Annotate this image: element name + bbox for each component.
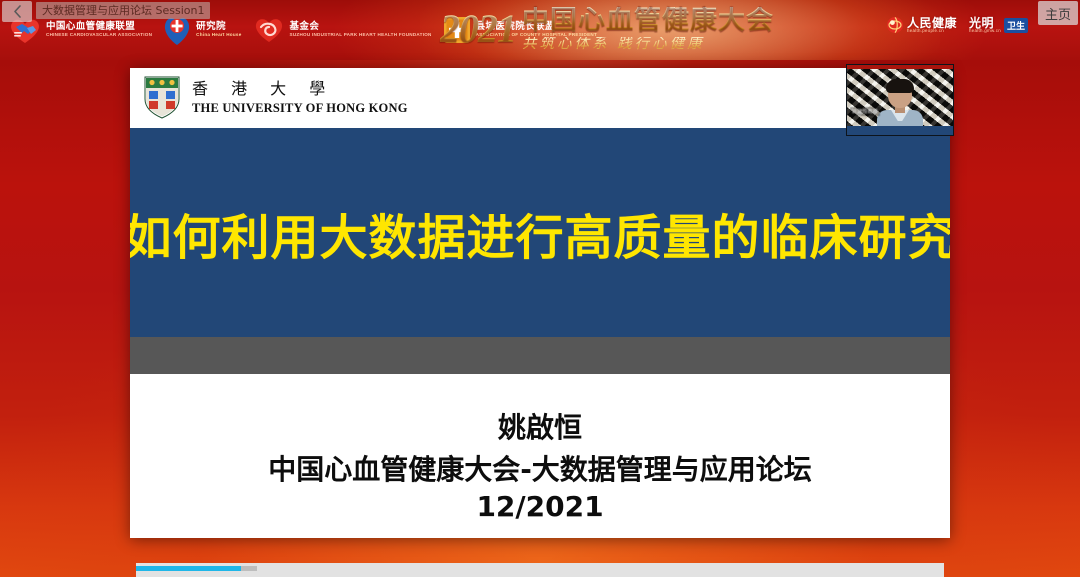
logo-url: health.people.cn [907, 29, 957, 33]
chevron-left-icon [12, 5, 23, 18]
slide-title: 如何利用大数据进行高质量的临床研究 [130, 198, 950, 268]
progress-played [136, 566, 241, 571]
slide-header: 香 港 大 學 THE UNIVERSITY OF HONG KONG [130, 68, 950, 128]
webcam-top-edge [847, 65, 953, 69]
back-button[interactable] [2, 1, 32, 22]
logo-url: health.gmw.cn [969, 29, 1001, 33]
home-button[interactable]: 主页 [1038, 1, 1078, 25]
people-globe-icon [886, 16, 904, 34]
slide-divider-band [130, 337, 950, 374]
banner-subtitle: 共筑心体系 践行心健康 [522, 37, 774, 52]
university-cn-name: 香 港 大 學 [192, 81, 408, 97]
speaker-webcam-pip[interactable]: 姚啟恒教授 [846, 64, 954, 136]
video-player-stage: 中国心血管健康联盟 CHINESE CARDIOVASCULAR ASSOCIA… [0, 0, 1080, 577]
university-name-block: 香 港 大 學 THE UNIVERSITY OF HONG KONG [192, 81, 408, 115]
logo-cn-name: 中国心血管健康联盟 [46, 22, 152, 32]
conference-banner: 2021 中国心血管健康大会 共筑心体系 践行心健康 [440, 0, 870, 58]
logo-cn-name: 基金会 [290, 22, 432, 32]
top-banner-bar: 中国心血管健康联盟 CHINESE CARDIOVASCULAR ASSOCIA… [0, 0, 1080, 60]
logo-people-health: 人民健康 health.people.cn [886, 16, 957, 34]
banner-text-block: 中国心血管健康大会 共筑心体系 践行心健康 [522, 7, 774, 52]
banner-year: 2021 [440, 9, 516, 49]
hku-crest-icon [142, 73, 182, 124]
logo-text: 中国心血管健康联盟 CHINESE CARDIOVASCULAR ASSOCIA… [46, 22, 152, 38]
session-title-label: 大数据管理与应用论坛 Session1 [36, 2, 210, 19]
forum-name: 中国心血管健康大会-大数据管理与应用论坛 [268, 448, 812, 488]
presentation-slide[interactable]: 香 港 大 學 THE UNIVERSITY OF HONG KONG 如何利用… [130, 68, 950, 538]
ribbon-heart-icon [252, 15, 286, 45]
media-logo-row: 人民健康 health.people.cn 光明 health.gmw.cn 卫… [886, 16, 1028, 34]
logo-cn-name: 人民健康 [907, 17, 957, 29]
slide-footer: 姚啟恒 中国心血管健康大会-大数据管理与应用论坛 12/2021 [130, 374, 950, 538]
logo-guangming-health: 光明 health.gmw.cn 卫生 [969, 17, 1028, 33]
presentation-date: 12/2021 [476, 490, 603, 523]
logo-text: 研究院 China Heart House [196, 22, 241, 38]
webcam-bottom-bar [847, 126, 953, 135]
banner-title: 中国心血管健康大会 [522, 7, 774, 34]
logo-cn-name: 光明 [969, 17, 1001, 29]
logo-badge: 卫生 [1004, 18, 1028, 33]
logo-en-name: SUZHOU INDUSTRIAL PARK HEART HEALTH FOUN… [290, 33, 432, 38]
logo-en-name: CHINESE CARDIOVASCULAR ASSOCIATION [46, 33, 152, 38]
speaker-hair [886, 79, 914, 93]
logo-cn-name: 研究院 [196, 22, 241, 32]
logo-text: 基金会 SUZHOU INDUSTRIAL PARK HEART HEALTH … [290, 22, 432, 38]
webcam-name-tag: 姚啟恒教授 [850, 107, 880, 116]
speaker-name: 姚啟恒 [498, 406, 582, 446]
university-en-name: THE UNIVERSITY OF HONG KONG [192, 102, 408, 115]
logo-text: 人民健康 health.people.cn [907, 17, 957, 33]
logo-en-name: China Heart House [196, 33, 241, 38]
logo-text: 光明 health.gmw.cn [969, 17, 1001, 33]
video-progress-bar[interactable] [136, 563, 944, 577]
logo-heart-health-foundation: 基金会 SUZHOU INDUSTRIAL PARK HEART HEALTH … [252, 12, 432, 48]
slide-title-band: 如何利用大数据进行高质量的临床研究 [130, 128, 950, 337]
